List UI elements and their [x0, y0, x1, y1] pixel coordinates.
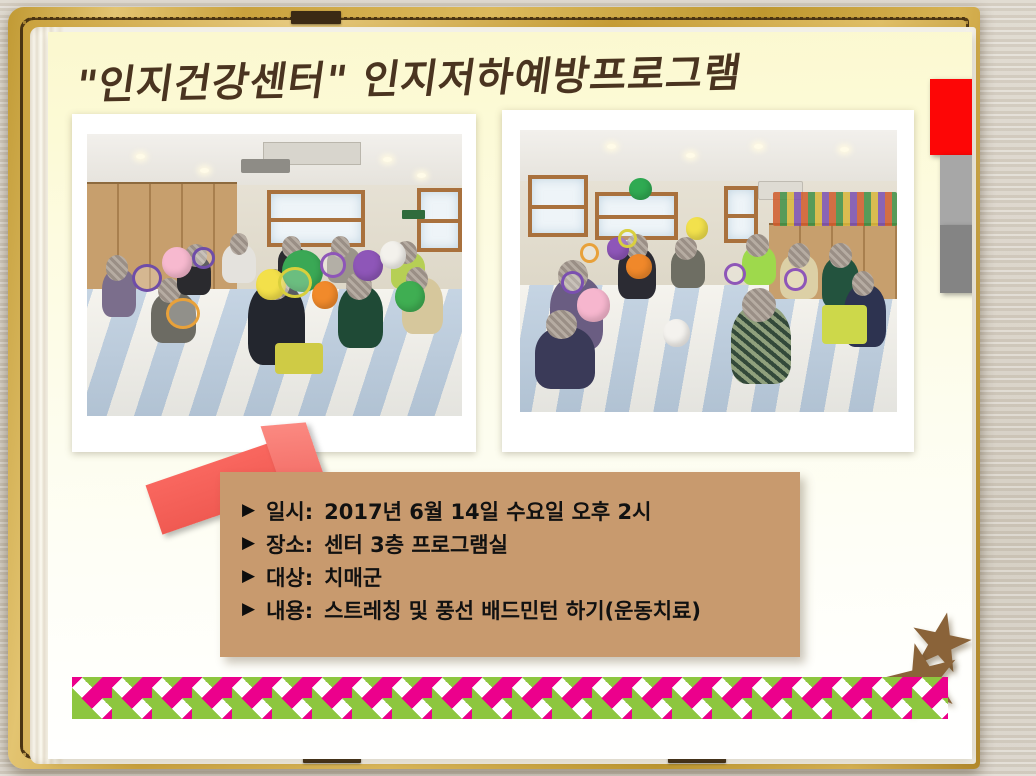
info-row: ▶ 내용: 스트레칭 및 풍선 배드민턴 하기(운동치료)	[242, 593, 800, 626]
info-row: ▶ 장소: 센터 3층 프로그램실	[242, 527, 800, 560]
info-box: ▶ 일시: 2017년 6월 14일 수요일 오후 2시 ▶ 장소: 센터 3층…	[220, 472, 800, 657]
info-label: 일시:	[266, 496, 313, 526]
bullet-icon: ▶	[242, 502, 255, 519]
info-value: 치매군	[324, 562, 382, 592]
page-title: "인지건강센터" 인지저하예방프로그램	[72, 41, 843, 118]
book-frame: "인지건강센터" 인지저하예방프로그램	[8, 7, 980, 769]
photo-left-image	[87, 134, 462, 416]
info-label: 내용:	[266, 595, 313, 625]
photo-card-left[interactable]	[72, 114, 476, 452]
bullet-icon: ▶	[242, 601, 255, 618]
info-value: 스트레칭 및 풍선 배드민턴 하기(운동치료)	[324, 595, 701, 625]
bookmark-tab-gray-dark[interactable]	[940, 225, 972, 293]
activity-room-scene-left	[87, 134, 462, 416]
bookmark-tab-gray-light[interactable]	[940, 155, 972, 225]
info-row: ▶ 일시: 2017년 6월 14일 수요일 오후 2시	[242, 494, 800, 527]
info-row: ▶ 대상: 치매군	[242, 560, 800, 593]
activity-room-scene-right	[520, 130, 897, 412]
page-canvas: "인지건강센터" 인지저하예방프로그램	[48, 32, 972, 759]
frame-clip-top	[291, 11, 341, 24]
bullet-icon: ▶	[242, 568, 255, 585]
photo-card-right[interactable]	[502, 110, 914, 452]
info-label: 장소:	[266, 529, 313, 559]
bookmark-tab-red[interactable]	[930, 79, 972, 155]
photo-right-image	[520, 130, 897, 412]
info-value: 센터 3층 프로그램실	[324, 529, 508, 559]
info-value: 2017년 6월 14일 수요일 오후 2시	[324, 496, 651, 526]
info-label: 대상:	[266, 562, 313, 592]
bullet-icon: ▶	[242, 535, 255, 552]
triangle-border-overlay	[72, 677, 948, 719]
